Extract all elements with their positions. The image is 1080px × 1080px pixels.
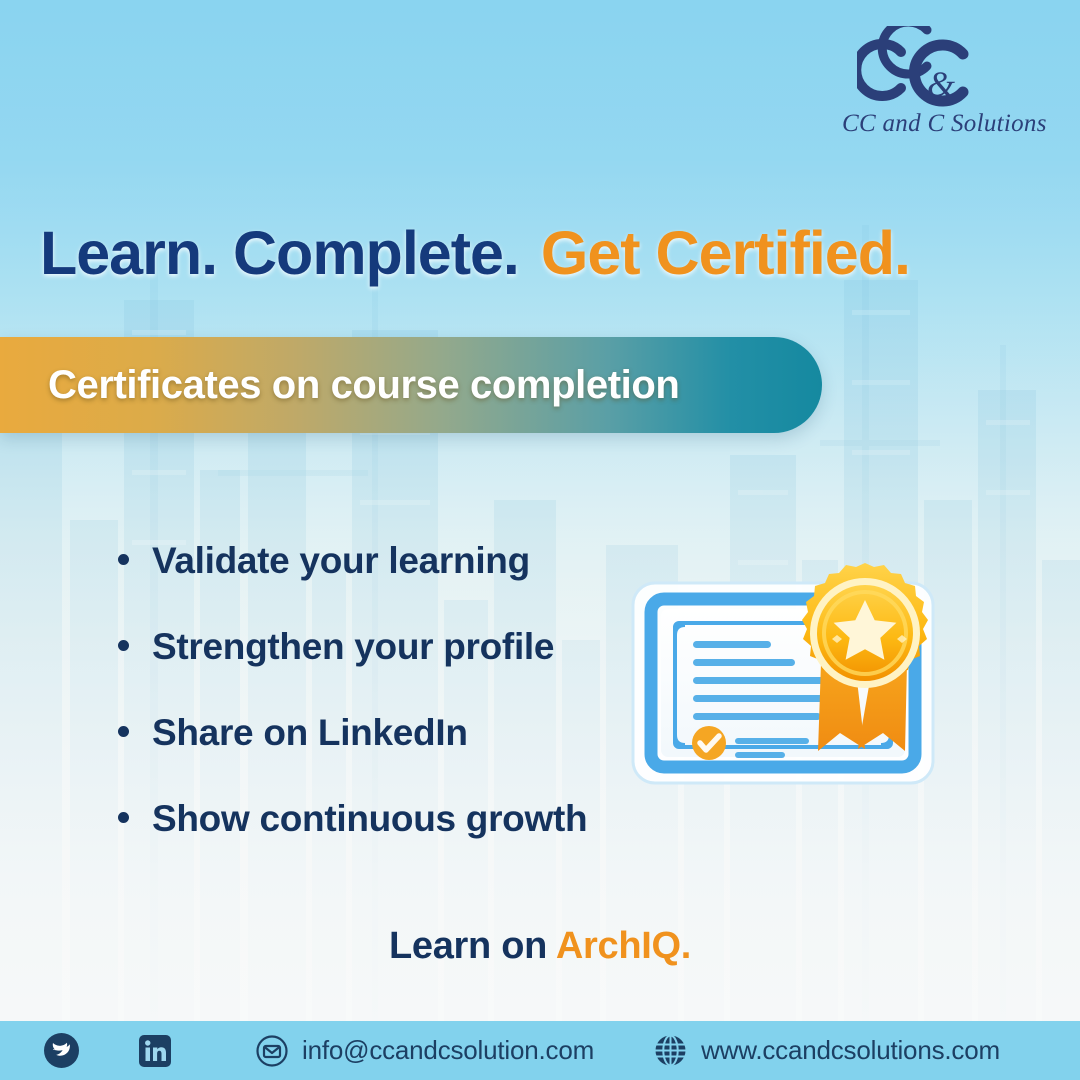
cta-tagline: Learn on ArchIQ. — [0, 925, 1080, 968]
tagline-brand: ArchIQ. — [556, 925, 691, 967]
website-text: www.ccandcsolutions.com — [701, 1035, 1000, 1066]
list-item: Strengthen your profile — [118, 626, 638, 668]
envelope-icon — [256, 1035, 288, 1067]
twitter-link[interactable] — [44, 1033, 79, 1068]
email-text: info@ccandcsolution.com — [302, 1035, 594, 1066]
cc-monogram-icon: & — [842, 26, 1042, 112]
linkedin-link[interactable] — [139, 1035, 171, 1067]
bullet-dot-icon — [118, 812, 129, 823]
banner-text: Certificates on course completion — [48, 363, 679, 408]
list-item: Validate your learning — [118, 540, 638, 582]
certificate-illustration — [625, 545, 980, 800]
bullet-dot-icon — [118, 554, 129, 565]
website-link[interactable]: www.ccandcsolutions.com — [654, 1034, 1000, 1067]
list-item: Show continuous growth — [118, 798, 638, 840]
company-logo: & CC and C Solutions — [842, 26, 1042, 138]
linkedin-icon — [139, 1035, 171, 1067]
bullet-dot-icon — [118, 726, 129, 737]
list-item: Share on LinkedIn — [118, 712, 638, 754]
banner-ribbon: Certificates on course completion — [0, 337, 822, 433]
benefit-label: Validate your learning — [152, 540, 530, 582]
svg-text:&: & — [927, 64, 955, 104]
benefit-label: Share on LinkedIn — [152, 712, 468, 754]
tagline-prefix: Learn on — [389, 925, 547, 967]
footer-bar: info@ccandcsolution.com www.ccandcsoluti… — [0, 1021, 1080, 1080]
globe-icon — [654, 1034, 687, 1067]
promo-poster: & CC and C Solutions Learn. Complete.Get… — [0, 0, 1080, 1080]
page-title: Learn. Complete.Get Certified. — [40, 218, 910, 288]
bird-icon — [44, 1033, 79, 1068]
email-contact[interactable]: info@ccandcsolution.com — [256, 1035, 594, 1067]
benefits-list: Validate your learning Strengthen your p… — [118, 540, 638, 840]
headline-part-2: Get Certified. — [541, 219, 910, 287]
headline-part-1: Learn. Complete. — [40, 219, 519, 287]
benefit-label: Show continuous growth — [152, 798, 587, 840]
logo-wordmark: CC and C Solutions — [842, 110, 1042, 138]
benefit-label: Strengthen your profile — [152, 626, 554, 668]
bullet-dot-icon — [118, 640, 129, 651]
